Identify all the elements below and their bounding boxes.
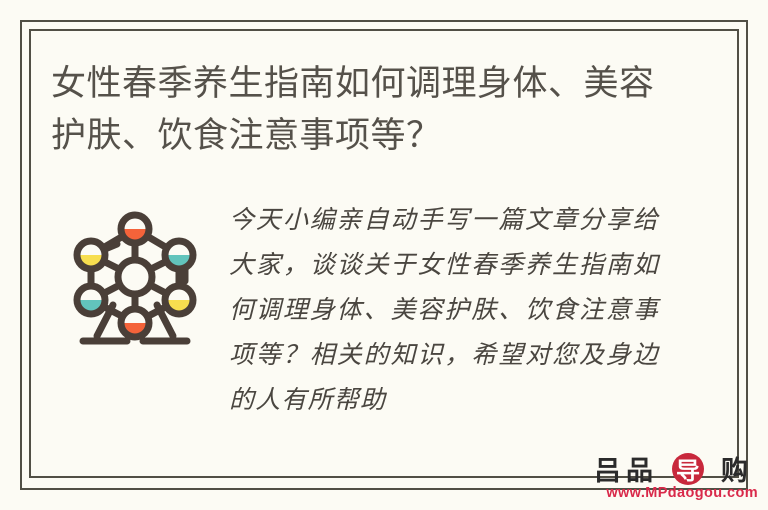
watermark-logo: 吕 品 导 购 xyxy=(592,453,760,487)
svg-text:导: 导 xyxy=(676,457,700,485)
svg-text:品: 品 xyxy=(626,456,653,487)
article-paragraph: 今天小编亲自动手写一篇文章分享给大家，谈谈关于女性春季养生指南如何调理身体、美容… xyxy=(229,197,659,422)
ferris-wheel-icon xyxy=(67,205,203,345)
article-body-row: 今天小编亲自动手写一篇文章分享给大家，谈谈关于女性春季养生指南如何调理身体、美容… xyxy=(51,197,729,422)
site-watermark: 吕 品 导 购 www.MPdaogou.com xyxy=(592,453,760,502)
svg-text:吕: 吕 xyxy=(594,456,621,487)
page-title: 女性春季养生指南如何调理身体、美容护肤、饮食注意事项等？ xyxy=(51,58,671,162)
card-content: 女性春季养生指南如何调理身体、美容护肤、饮食注意事项等？ xyxy=(29,29,739,478)
watermark-url: www.MPdaogou.com xyxy=(592,485,760,502)
svg-text:购: 购 xyxy=(721,456,748,487)
article-card: 女性春季养生指南如何调理身体、美容护肤、饮食注意事项等？ xyxy=(0,0,768,510)
